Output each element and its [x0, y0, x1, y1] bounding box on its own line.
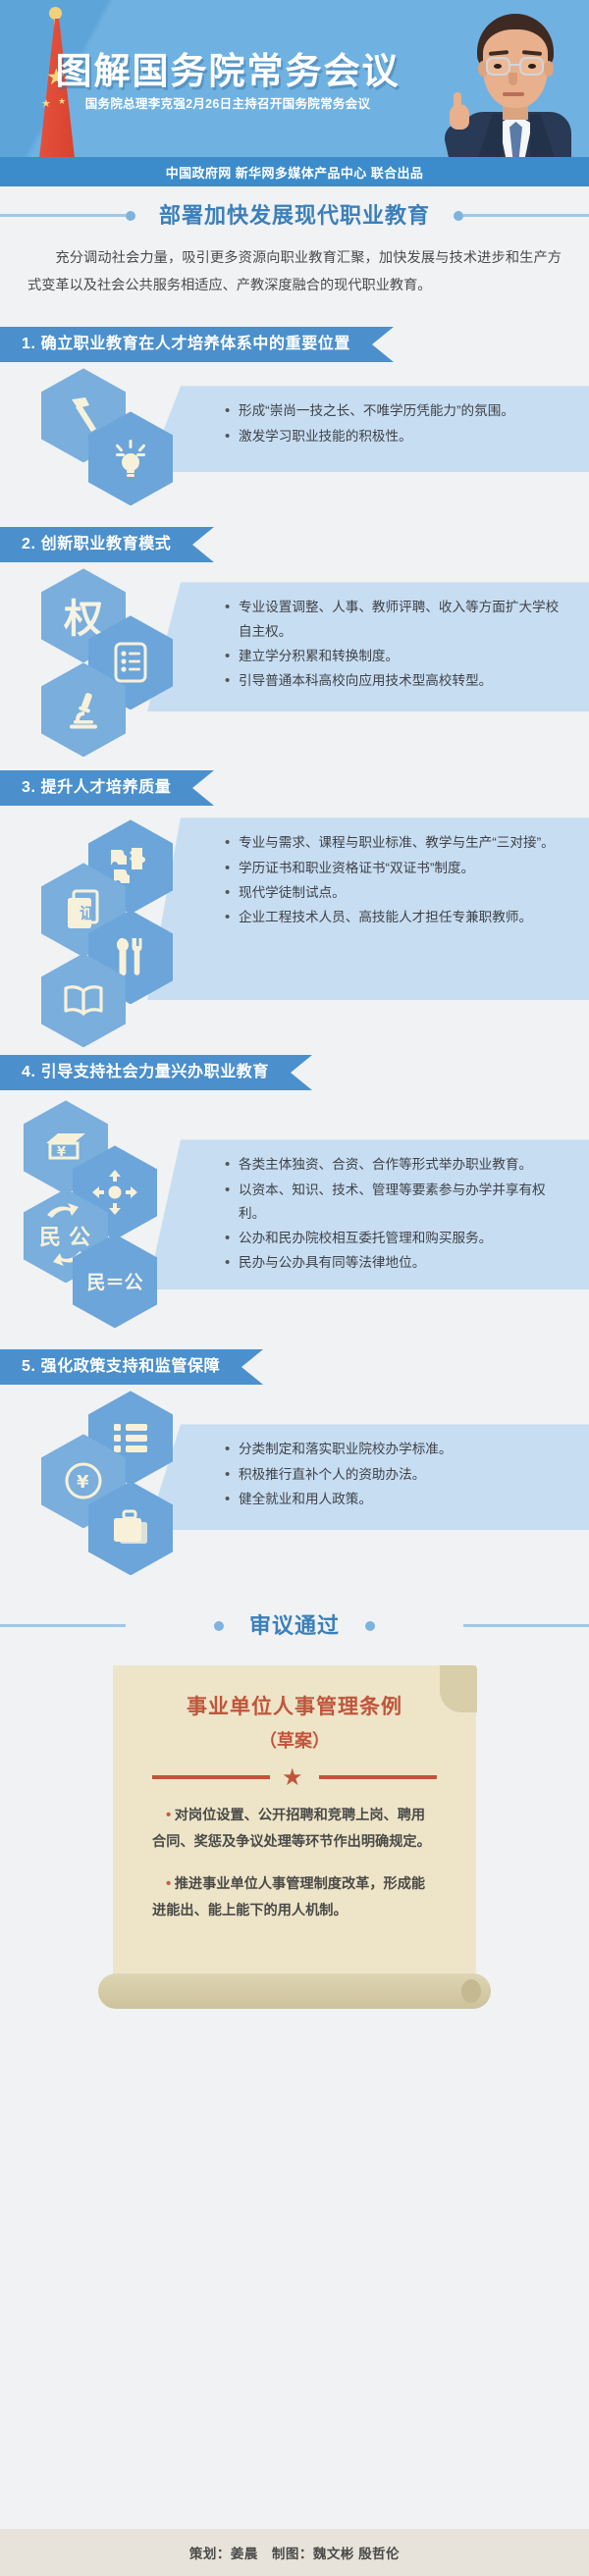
list-item: 现代学徒制试点。 [224, 881, 567, 905]
list-item: 专业与需求、课程与职业标准、教学与生产“三对接”。 [224, 831, 567, 855]
section-3-panel: 专业与需求、课程与职业标准、教学与生产“三对接”。 学历证书和职业资格证书“双证… [147, 817, 589, 1000]
section-2-heading: 2. 创新职业教育模式 [0, 527, 214, 562]
section-5-heading: 5. 强化政策支持和监管保障 [0, 1349, 263, 1385]
section-5-banner-row: 5. 强化政策支持和监管保障 [0, 1340, 589, 1391]
list-item: 推进事业单位人事管理制度改革，形成能进能出、能上能下的用人机制。 [152, 1871, 437, 1924]
divider-line-right [319, 1775, 437, 1779]
svg-text:¥: ¥ [57, 1145, 66, 1160]
section-1-banner-row: 1. 确立职业教育在人才培养体系中的重要位置 [0, 317, 589, 368]
list-item: 建立学分积累和转换制度。 [224, 645, 567, 668]
section-1-heading: 1. 确立职业教育在人才培养体系中的重要位置 [0, 327, 394, 362]
portrait-nose [509, 73, 517, 85]
rule-line-right [463, 214, 589, 217]
svg-text:¥: ¥ [77, 1472, 89, 1493]
approval-title-row: 审议通过 [0, 1597, 589, 1652]
list-item: 各类主体独资、合资、合作等形式举办职业教育。 [224, 1153, 567, 1177]
section-4-banner-row: 4. 引导支持社会力量兴办职业教育 [0, 1045, 589, 1096]
approval-scroll: 事业单位人事管理条例 （草案） ★ 对岗位设置、公开招聘和竞聘上岗、聘用合同、奖… [0, 1652, 589, 2019]
section-2-banner-row: 2. 创新职业教育模式 [0, 517, 589, 568]
section-4-panel: 各类主体独资、合资、合作等形式举办职业教育。 以资本、知识、技术、管理等要素参与… [147, 1139, 589, 1289]
rule-dot-left [126, 211, 135, 221]
page-subtitle: 国务院总理李克强2月26日主持召开国务院常务会议 [51, 93, 404, 112]
topic-title-row: 部署加快发展现代职业教育 [0, 186, 589, 241]
list-item: 激发学习职业技能的积极性。 [224, 425, 567, 448]
rule-dot-right [454, 211, 463, 221]
portrait-ear-right [544, 61, 554, 77]
list-item: 学历证书和职业资格证书“双证书”制度。 [224, 857, 567, 880]
section-4-heading: 4. 引导支持社会力量兴办职业教育 [0, 1055, 312, 1090]
portrait-mouth [503, 92, 524, 96]
section-2-panel: 专业设置调整、人事、教师评聘、收入等方面扩大学校自主权。 建立学分积累和转换制度… [147, 582, 589, 711]
list-item: 健全就业和用人政策。 [224, 1488, 567, 1511]
scroll-bottom-roll [98, 1973, 491, 2009]
list-item: 形成“崇尚一技之长、不唯学历凭能力”的氛围。 [224, 399, 567, 423]
list-item: 民办与公办具有同等法律地位。 [224, 1251, 567, 1275]
list-item: 引导普通本科高校向应用技术型高校转型。 [224, 669, 567, 693]
scroll-divider: ★ [152, 1769, 437, 1785]
list-item: 积极推行直补个人的资助办法。 [224, 1463, 567, 1487]
rule-dot-right [365, 1621, 375, 1631]
topic-title: 部署加快发展现代职业教育 [143, 198, 446, 230]
approval-title: 审议通过 [234, 1608, 355, 1640]
flag-knob [49, 7, 62, 20]
divider-line-left [152, 1775, 270, 1779]
section-4-block: 各类主体独资、合资、合作等形式举办职业教育。 以资本、知识、技术、管理等要素参与… [0, 1096, 589, 1340]
svg-text:证: 证 [80, 904, 95, 922]
section-1-block: 形成“崇尚一技之长、不唯学历凭能力”的氛围。 激发学习职业技能的积极性。 [0, 368, 589, 517]
flag-star-small-1: ★ [41, 99, 51, 110]
list-item: 公办和民办院校相互委托管理和购买服务。 [224, 1227, 567, 1250]
portrait-hand [450, 104, 469, 130]
rule-line-right [463, 1624, 589, 1627]
list-item: 专业设置调整、人事、教师评聘、收入等方面扩大学校自主权。 [224, 596, 567, 643]
document-subtitle: （草案） [152, 1727, 437, 1753]
credit-bar: 中国政府网 新华网多媒体产品中心 联合出品 [0, 157, 589, 186]
rule-line-left [0, 1624, 126, 1627]
list-item: 分类制定和落实职业院校办学标准。 [224, 1438, 567, 1461]
page-header: ★ ★ ★ 图解国务院常务会议 国务院总理李克强2月26日主持召开国务院常务会议 [0, 0, 589, 157]
section-5-panel: 分类制定和落实职业院校办学标准。 积极推行直补个人的资助办法。 健全就业和用人政… [147, 1424, 589, 1530]
rule-dot-left [214, 1621, 224, 1631]
scroll-top-curl [440, 1665, 477, 1712]
section-3-heading: 3. 提升人才培养质量 [0, 770, 214, 806]
section-3-block: 专业与需求、课程与职业标准、教学与生产“三对接”。 学历证书和职业资格证书“双证… [0, 812, 589, 1045]
list-item: 企业工程技术人员、高技能人才担任专兼职教师。 [224, 906, 567, 929]
red-star-icon: ★ [282, 1766, 303, 1790]
section-3-banner-row: 3. 提升人才培养质量 [0, 761, 589, 812]
page-title: 图解国务院常务会议 [51, 41, 404, 94]
topic-intro: 充分调动社会力量，吸引更多资源向职业教育汇聚，加快发展与技术进步和生产方式变革以… [0, 241, 589, 317]
svg-text:公: 公 [69, 1225, 90, 1250]
portrait-glasses-bridge [510, 64, 519, 66]
portrait-eye-right [528, 64, 536, 69]
section-2-block: 专业设置调整、人事、教师评聘、收入等方面扩大学校自主权。 建立学分积累和转换制度… [0, 568, 589, 761]
hex-label: 民＝公 [86, 1268, 142, 1294]
section-5-block: 分类制定和落实职业院校办学标准。 积极推行直补个人的资助办法。 健全就业和用人政… [0, 1391, 589, 1583]
scroll-paper: 事业单位人事管理条例 （草案） ★ 对岗位设置、公开招聘和竞聘上岗、聘用合同、奖… [113, 1665, 476, 1973]
premier-portrait-icon [438, 14, 585, 157]
section-1-panel: 形成“崇尚一技之长、不唯学历凭能力”的氛围。 激发学习职业技能的积极性。 [147, 386, 589, 472]
svg-text:民: 民 [39, 1225, 61, 1250]
footer-credits: 策划：姜晨 制图：魏文彬 殷哲伦 [0, 2529, 589, 2576]
rule-line-left [0, 214, 126, 217]
list-item: 以资本、知识、技术、管理等要素参与办学并享有权利。 [224, 1179, 567, 1226]
portrait-eye-left [494, 64, 502, 69]
document-title: 事业单位人事管理条例 [152, 1691, 437, 1720]
list-item: 对岗位设置、公开招聘和竞聘上岗、聘用合同、奖惩及争议处理等环节作出明确规定。 [152, 1803, 437, 1856]
